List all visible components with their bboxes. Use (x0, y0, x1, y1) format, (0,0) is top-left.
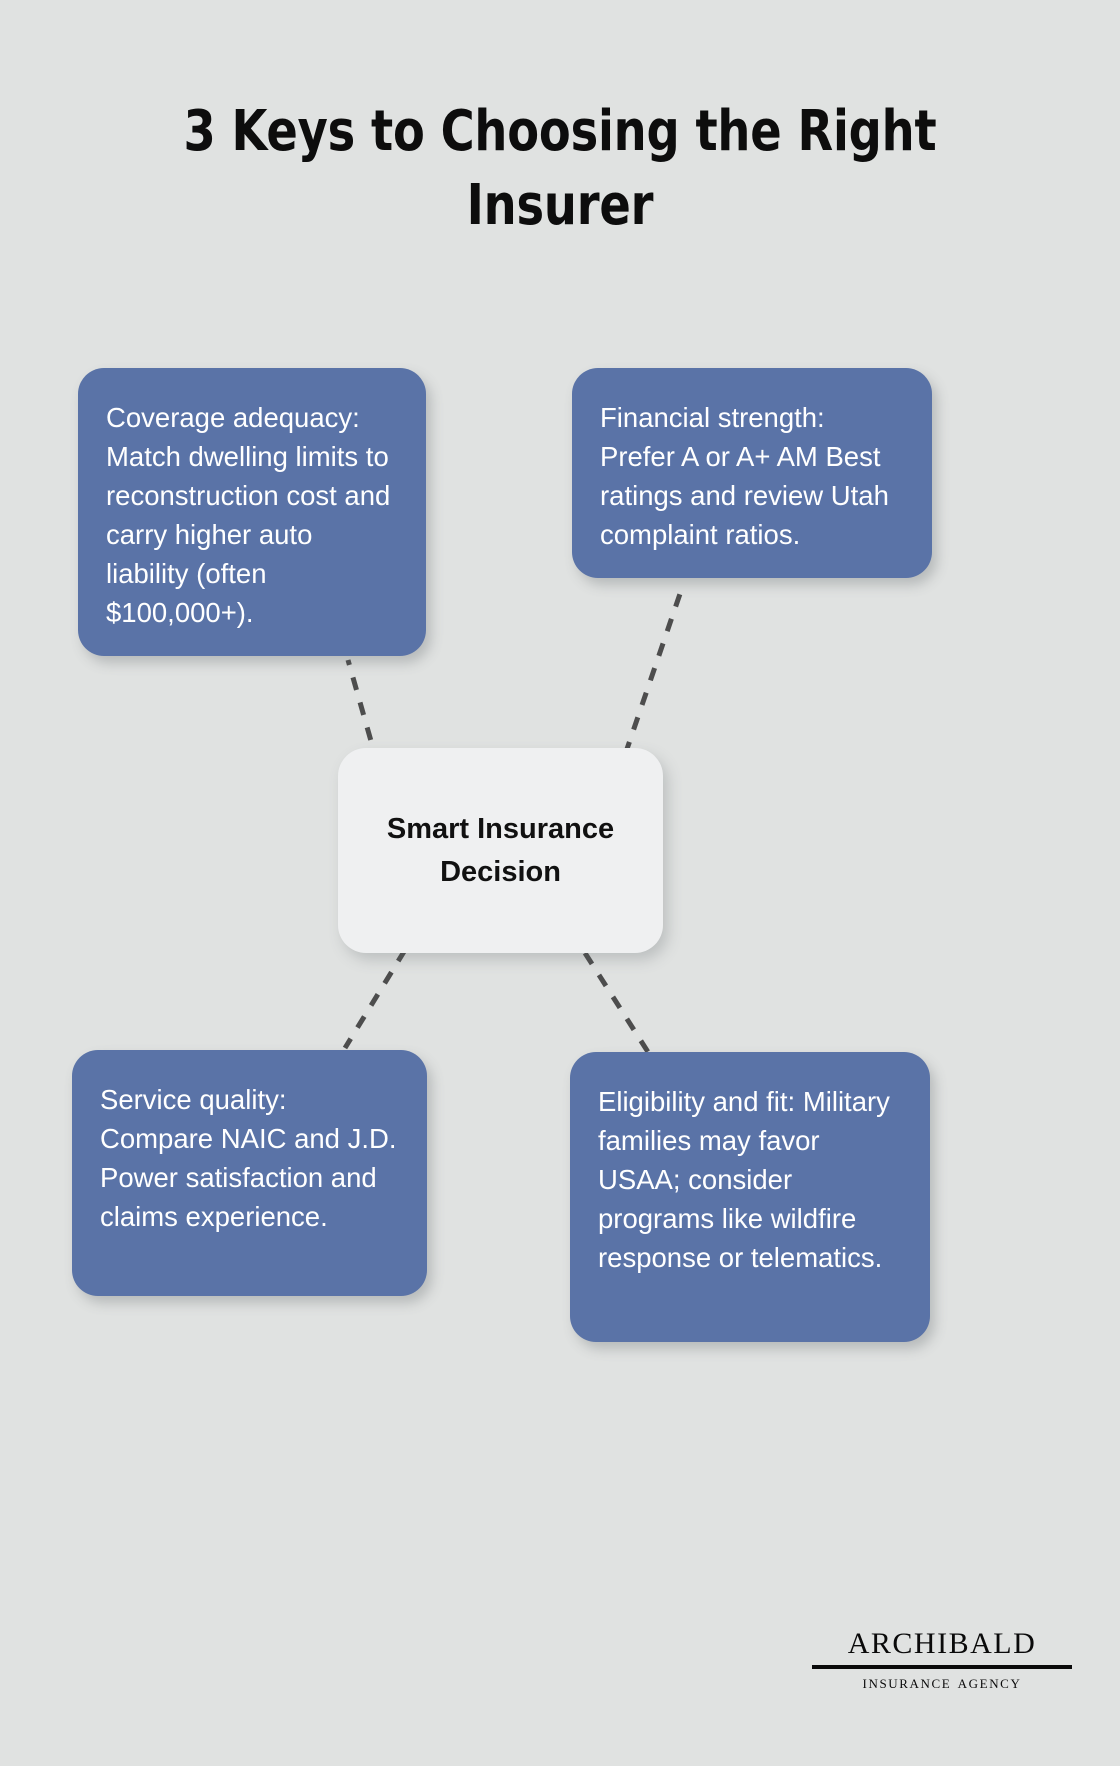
node-financial-strength-label: Financial strength: Prefer A or A+ AM Be… (600, 398, 902, 554)
node-center-smart-insurance-decision[interactable]: Smart Insurance Decision (338, 748, 663, 953)
brand-logo-name: Archibald (812, 1618, 1072, 1662)
brand-logo-tagline: Insurance Agency (812, 1673, 1072, 1694)
node-center-label: Smart Insurance Decision (362, 808, 639, 892)
page-title: 3 Keys to Choosing the Right Insurer (128, 95, 993, 243)
connector-center-to-eligibility (585, 953, 648, 1052)
infographic-canvas: 3 Keys to Choosing the Right Insurer Cov… (0, 0, 1120, 1766)
brand-logo-rule (812, 1665, 1072, 1669)
brand-logo: Archibald Insurance Agency (812, 1618, 1072, 1694)
node-coverage-adequacy-label: Coverage adequacy: Match dwelling limits… (106, 398, 396, 632)
node-coverage-adequacy[interactable]: Coverage adequacy: Match dwelling limits… (78, 368, 426, 656)
node-service-quality-label: Service quality: Compare NAIC and J.D. P… (100, 1080, 397, 1236)
node-service-quality[interactable]: Service quality: Compare NAIC and J.D. P… (72, 1050, 427, 1296)
node-financial-strength[interactable]: Financial strength: Prefer A or A+ AM Be… (572, 368, 932, 578)
connector-center-to-service (345, 950, 405, 1048)
node-eligibility-and-fit[interactable]: Eligibility and fit: Military families m… (570, 1052, 930, 1342)
node-eligibility-and-fit-label: Eligibility and fit: Military families m… (598, 1082, 900, 1277)
